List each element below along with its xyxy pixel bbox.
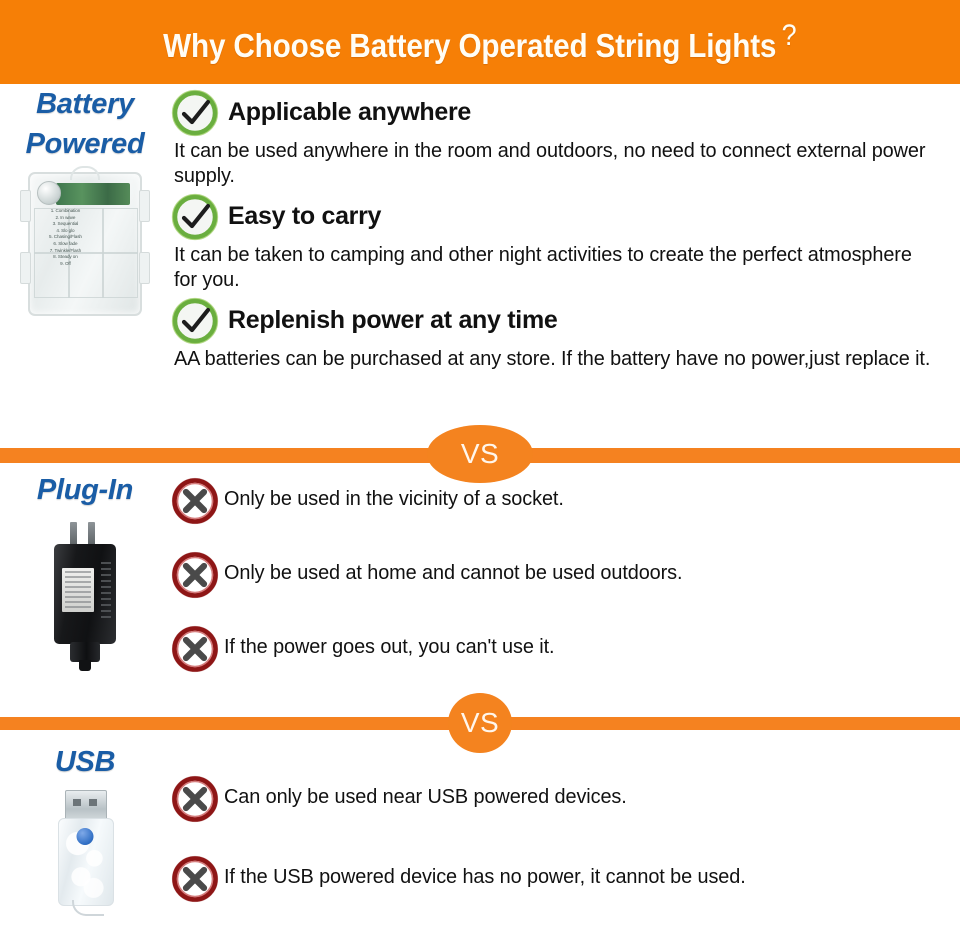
vs-label: VS bbox=[461, 707, 499, 739]
bullet-text: Only be used in the vicinity of a socket… bbox=[224, 476, 564, 522]
category-label-line1: Battery bbox=[0, 84, 170, 124]
bullet-item: Easy to carry bbox=[170, 192, 960, 242]
bullet-heading: Applicable anywhere bbox=[228, 88, 471, 136]
ac-adapter-photo bbox=[48, 522, 122, 672]
adapter-vents bbox=[101, 562, 111, 622]
mode-item: 9. Off bbox=[49, 261, 82, 268]
adapter-prong bbox=[88, 522, 95, 546]
category-label-usb: USB bbox=[0, 742, 170, 782]
plug-bullet-list: Only be used in the vicinity of a socket… bbox=[170, 470, 960, 674]
bullet-text: Only be used at home and cannot be used … bbox=[224, 550, 682, 596]
mode-item: 3. Sequential bbox=[49, 221, 82, 228]
bullet-item: Applicable anywhere bbox=[170, 88, 960, 138]
check-icon bbox=[170, 192, 220, 242]
usb-bullet-list: Can only be used near USB powered device… bbox=[170, 742, 960, 904]
mode-item: 1. Combination bbox=[49, 208, 82, 215]
mode-item: 6. Slow fade bbox=[49, 241, 82, 248]
bullet-heading: Easy to carry bbox=[228, 192, 381, 240]
adapter-cable-barrel bbox=[70, 642, 100, 662]
mode-item: 8. Steady on bbox=[49, 254, 82, 261]
bullet-item: If the power goes out, you can't use it. bbox=[170, 624, 960, 674]
bullet-text: Can only be used near USB powered device… bbox=[224, 774, 627, 820]
cross-icon bbox=[170, 624, 220, 674]
adapter-prong bbox=[70, 522, 77, 546]
bullet-text: If the power goes out, you can't use it. bbox=[224, 624, 554, 670]
battery-box-tab bbox=[139, 252, 150, 284]
vs-label: VS bbox=[461, 438, 499, 470]
mode-item: 5. Chasing/Flash bbox=[49, 234, 82, 241]
mode-item: 7. Twinkle/Flash bbox=[49, 248, 82, 255]
bullet-text: If the USB powered device has no power, … bbox=[224, 854, 746, 900]
bullet-body: It can be taken to camping and other nig… bbox=[174, 242, 936, 292]
bullet-item: Can only be used near USB powered device… bbox=[170, 774, 960, 824]
bullet-item: If the USB powered device has no power, … bbox=[170, 854, 960, 904]
page-header: Why Choose Battery Operated String Light… bbox=[0, 0, 960, 84]
battery-box-tab bbox=[139, 190, 150, 222]
cross-icon bbox=[170, 550, 220, 600]
mode-item: 4. Slo glo bbox=[49, 228, 82, 235]
plug-left-column: Plug-In bbox=[0, 470, 170, 688]
mode-item: 2. In wave bbox=[49, 215, 82, 222]
category-label-line2: Powered bbox=[0, 124, 170, 164]
adapter-cable-tip bbox=[79, 660, 91, 671]
battery-left-column: Battery Powered 1. Combination 2. In wav… bbox=[0, 84, 170, 428]
usb-connector-photo bbox=[54, 790, 116, 915]
category-label-plug-in: Plug-In bbox=[0, 470, 170, 510]
page-title: Why Choose Battery Operated String Light… bbox=[163, 19, 796, 65]
adapter-label bbox=[62, 568, 94, 612]
usb-left-column: USB bbox=[0, 742, 170, 931]
bullet-body: AA batteries can be purchased at any sto… bbox=[174, 346, 936, 371]
battery-bullet-list: Applicable anywhere It can be used anywh… bbox=[170, 84, 960, 371]
bullet-item: Replenish power at any time bbox=[170, 296, 960, 346]
section-usb: USB Can only be used near USB powered de… bbox=[0, 742, 960, 931]
question-mark: ? bbox=[782, 19, 797, 52]
cross-icon bbox=[170, 774, 220, 824]
usb-blue-button[interactable] bbox=[77, 828, 94, 845]
section-plug-in: Plug-In bbox=[0, 470, 960, 688]
check-icon bbox=[170, 88, 220, 138]
section-battery-powered: Battery Powered 1. Combination 2. In wav… bbox=[0, 84, 960, 428]
cross-icon bbox=[170, 854, 220, 904]
cross-icon bbox=[170, 476, 220, 526]
battery-box-circuit-board bbox=[56, 183, 130, 205]
battery-box-photo: 1. Combination 2. In wave 3. Sequential … bbox=[28, 172, 142, 316]
usb-wire bbox=[72, 900, 104, 916]
battery-box-mode-list: 1. Combination 2. In wave 3. Sequential … bbox=[49, 208, 82, 267]
bullet-item: Only be used at home and cannot be used … bbox=[170, 550, 960, 600]
battery-box-mode-knob[interactable] bbox=[37, 181, 61, 205]
check-icon bbox=[170, 296, 220, 346]
adapter-body bbox=[54, 544, 116, 644]
bullet-heading: Replenish power at any time bbox=[228, 296, 558, 344]
bullet-item: Only be used in the vicinity of a socket… bbox=[170, 476, 960, 526]
bullet-body: It can be used anywhere in the room and … bbox=[174, 138, 936, 188]
page-title-text: Why Choose Battery Operated String Light… bbox=[163, 27, 776, 64]
category-label-battery: Battery Powered bbox=[0, 84, 170, 164]
